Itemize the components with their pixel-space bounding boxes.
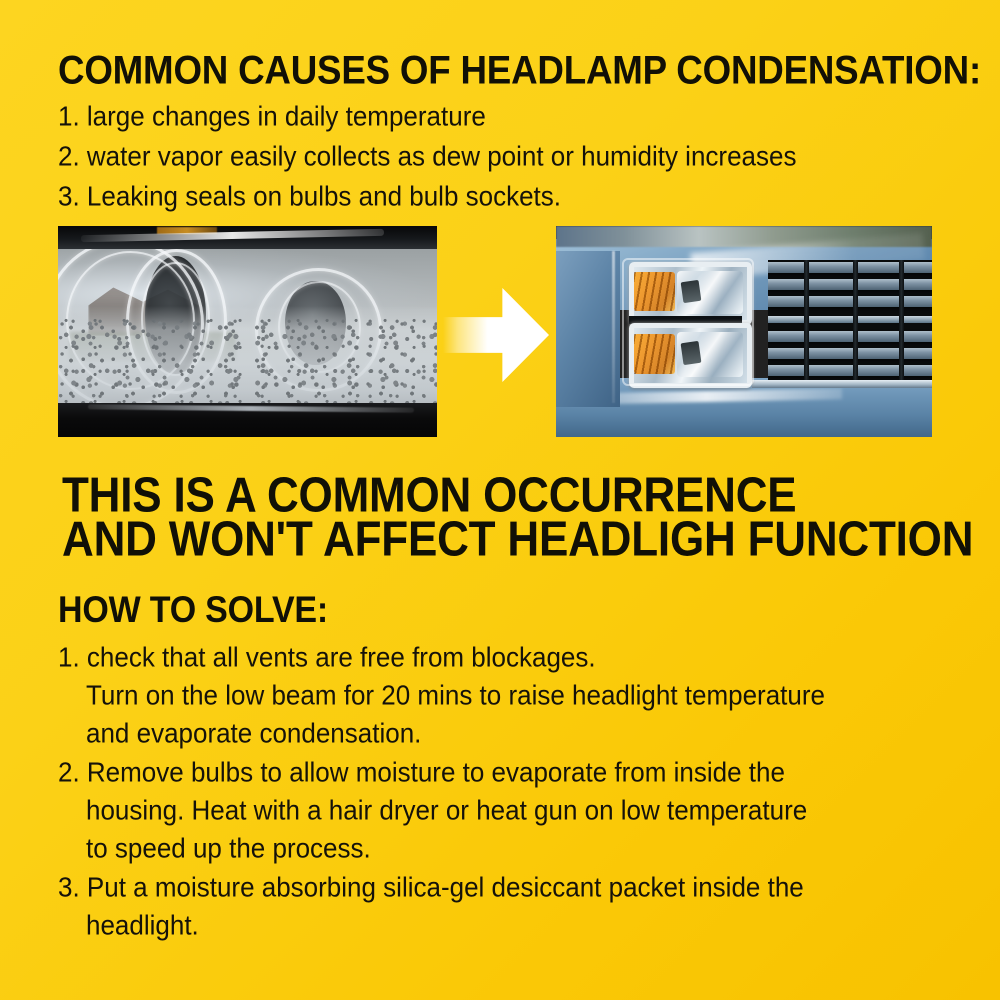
lower-headlight-bulb [680, 341, 701, 365]
grille-slat [768, 279, 932, 290]
truck-grille [768, 260, 932, 382]
solve-line: 3. Put a moisture absorbing silica-gel d… [58, 871, 804, 904]
grille-slat [768, 296, 932, 307]
cause-item-3: 3. Leaking seals on bulbs and bulb socke… [58, 180, 561, 213]
condensation-droplets [58, 315, 437, 416]
causes-title: COMMON CAUSES OF HEADLAMP CONDENSATION: [58, 47, 981, 93]
headline-line-2: AND WON'T AFFECT HEADLIGH FUNCTION [62, 512, 973, 568]
grille-slat [768, 348, 932, 359]
grille-post [853, 260, 857, 382]
lower-chrome-strip [752, 380, 932, 388]
lower-turn-signal-amber [634, 334, 675, 375]
grille-post [899, 260, 903, 382]
solve-line: housing. Heat with a hair dryer or heat … [86, 794, 807, 827]
grille-slat [768, 365, 932, 376]
fender-edge-highlight [612, 251, 615, 403]
grille-slat [768, 262, 932, 273]
amber-lens-ribs [634, 334, 675, 375]
cause-item-2: 2. water vapor easily collects as dew po… [58, 140, 796, 173]
after-photo-clear-headlights [556, 226, 932, 437]
amber-lens-ribs [634, 272, 675, 311]
solve-line: to speed up the process. [86, 832, 371, 865]
lower-headlight [629, 323, 752, 388]
solve-line: and evaporate condensation. [86, 717, 421, 750]
solve-line: 1. check that all vents are free from bl… [58, 641, 596, 674]
grille-slat [768, 331, 932, 342]
solve-line: Turn on the low beam for 20 mins to rais… [86, 679, 825, 712]
solve-line: headlight. [86, 909, 199, 942]
grille-post [804, 260, 808, 382]
grille-center-bar [768, 316, 932, 323]
cause-item-1: 1. large changes in daily temperature [58, 100, 486, 133]
upper-turn-signal-amber [634, 272, 675, 311]
solve-title: HOW TO SOLVE: [58, 589, 328, 632]
solve-line: 2. Remove bulbs to allow moisture to eva… [58, 756, 785, 789]
infographic-page: COMMON CAUSES OF HEADLAMP CONDENSATION: … [0, 0, 1000, 1000]
upper-headlight-bulb [680, 279, 701, 302]
right-arrow-icon [443, 279, 549, 391]
before-photo-fogged-headlamp [58, 226, 437, 437]
truck-fender [556, 251, 620, 407]
